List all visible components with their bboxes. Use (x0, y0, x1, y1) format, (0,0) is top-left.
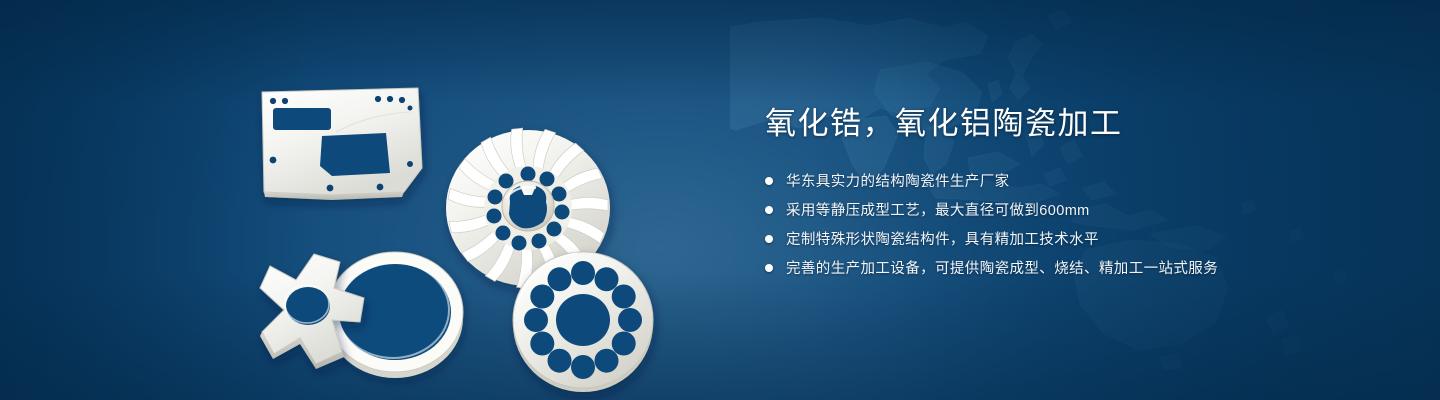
list-item: 华东具实力的结构陶瓷件生产厂家 (765, 169, 1325, 193)
list-item-label: 定制特殊形状陶瓷结构件，具有精加工技术水平 (786, 228, 1099, 249)
list-item: 采用等静压成型工艺，最大直径可做到600mm (765, 198, 1325, 222)
ceramic-machined-plate (262, 88, 422, 200)
list-item-label: 华东具实力的结构陶瓷件生产厂家 (786, 170, 1010, 191)
filled-circle-bullet-icon (765, 264, 773, 272)
banner-copy: 氧化锆，氧化铝陶瓷加工 华东具实力的结构陶瓷件生产厂家 采用等静压成型工艺，最大… (765, 106, 1325, 285)
product-photo-group (240, 40, 700, 390)
page-title: 氧化锆，氧化铝陶瓷加工 (765, 106, 1325, 143)
ceramic-perforated-disc (513, 252, 653, 392)
list-item-label: 完善的生产加工设备，可提供陶瓷成型、烧结、精加工一站式服务 (786, 257, 1218, 278)
filled-circle-bullet-icon (765, 206, 773, 214)
filled-circle-bullet-icon (765, 235, 773, 243)
list-item: 完善的生产加工设备，可提供陶瓷成型、烧结、精加工一站式服务 (765, 256, 1325, 280)
hero-banner: 氧化锆，氧化铝陶瓷加工 华东具实力的结构陶瓷件生产厂家 采用等静压成型工艺，最大… (0, 0, 1440, 400)
list-item: 定制特殊形状陶瓷结构件，具有精加工技术水平 (765, 227, 1325, 251)
filled-circle-bullet-icon (765, 177, 773, 185)
list-item-label: 采用等静压成型工艺，最大直径可做到600mm (786, 199, 1090, 220)
feature-list: 华东具实力的结构陶瓷件生产厂家 采用等静压成型工艺，最大直径可做到600mm 定… (765, 169, 1325, 280)
